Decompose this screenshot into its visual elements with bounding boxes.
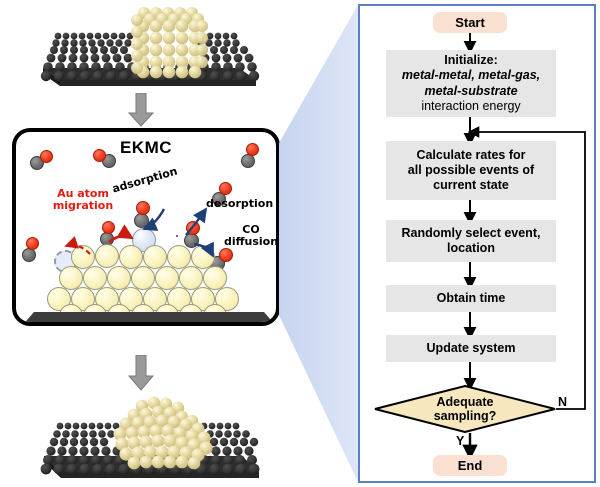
flow-node-adequate-sampling[interactable]: Adequate sampling?	[374, 385, 556, 433]
spacer	[176, 235, 178, 237]
flowchart-panel: Start Initialize: metal-metal, metal-gas…	[358, 4, 596, 483]
flow-node-calculate-rates[interactable]: Calculate rates for all possible events …	[386, 141, 556, 200]
select-line2: location	[447, 241, 495, 255]
co-oxygen-atom	[102, 221, 115, 234]
left-column: EKMC	[0, 0, 300, 487]
co-oxygen-atom	[136, 201, 150, 215]
co-oxygen-atom	[219, 182, 232, 195]
flow-node-start[interactable]: Start	[433, 12, 507, 33]
flow-node-obtain-time[interactable]: Obtain time	[386, 285, 556, 312]
flow-node-update-system[interactable]: Update system	[386, 335, 556, 362]
ekmc-panel: EKMC	[12, 128, 280, 326]
annotation-desorption: desorption	[206, 198, 273, 210]
co-oxygen-atom	[26, 237, 39, 250]
calculate-line2: all possible events of	[408, 163, 534, 177]
branch-label-no: N	[558, 395, 567, 409]
co-carbon-atom	[22, 248, 36, 262]
initial-cluster-illustration	[16, 4, 266, 96]
calculate-line3: current state	[433, 178, 509, 192]
initialize-line2: metal-metal, metal-gas,	[402, 68, 540, 82]
branch-label-yes: Y	[456, 434, 464, 448]
select-line1: Randomly select event,	[402, 226, 541, 240]
initialize-keyword: Initialize	[444, 53, 493, 67]
flow-arrow-down-top	[126, 93, 156, 132]
initialize-colon: :	[494, 53, 498, 67]
co-carbon-atom	[134, 213, 149, 228]
flow-node-initialize[interactable]: Initialize: metal-metal, metal-gas, meta…	[386, 50, 556, 117]
decision-line1: Adequate	[437, 395, 494, 409]
flow-node-select-event[interactable]: Randomly select event, location	[386, 220, 556, 262]
final-cluster-illustration	[14, 390, 268, 486]
annotation-co-diffusion: CO diffusion	[222, 224, 280, 247]
co-carbon-atom	[241, 154, 255, 168]
calculate-line1: Calculate rates for	[416, 148, 525, 162]
decision-line2: sampling?	[434, 409, 497, 423]
decision-label: Adequate sampling?	[374, 395, 556, 424]
initialize-line4: interaction energy	[421, 99, 520, 113]
co-oxygen-atom	[246, 143, 259, 156]
initialize-line3: metal-substrate	[424, 84, 517, 98]
ekmc-title: EKMC	[16, 138, 276, 158]
co-oxygen-atom	[186, 221, 200, 235]
flow-node-end[interactable]: End	[433, 455, 507, 476]
co-oxygen-atom	[93, 149, 106, 162]
co-oxygen-atom	[40, 150, 53, 163]
ekmc-support-slab	[16, 300, 280, 326]
annotation-adsorption: adsorption	[111, 165, 179, 195]
co-oxygen-atom	[219, 248, 233, 262]
au-atom	[95, 244, 119, 268]
